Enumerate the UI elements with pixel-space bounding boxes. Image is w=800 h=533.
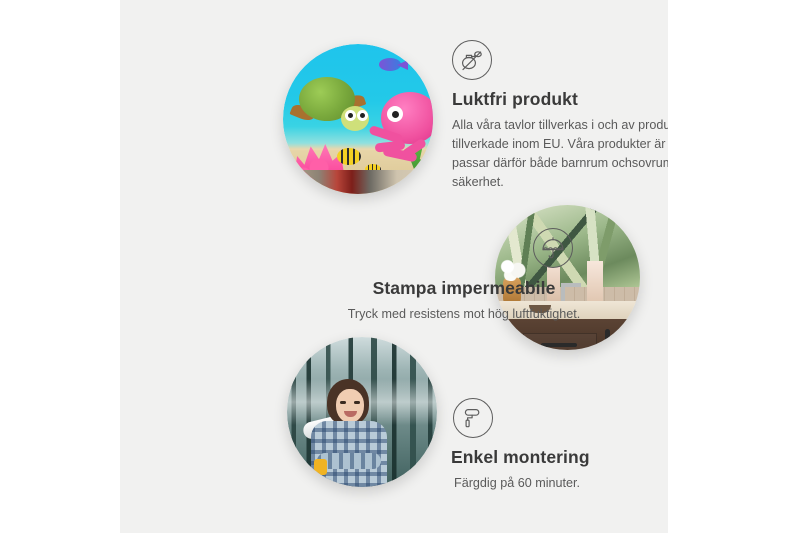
- woman-eye: [354, 401, 360, 404]
- feature-title: Stampa impermeabile: [338, 278, 590, 299]
- feature-waterproof-print: Stampa impermeabile Tryck med resistens …: [338, 228, 590, 324]
- feature-odour-free: Luktfri produkt Alla våra tavlor tillver…: [452, 40, 668, 193]
- bottom-photo-strip: [283, 170, 433, 194]
- vanity-drawer: [523, 333, 597, 350]
- underwater-scene-artwork: [283, 44, 433, 194]
- umbrella-icon: [533, 228, 573, 268]
- content-panel: Luktfri produkt Alla våra tavlor tillver…: [120, 0, 668, 533]
- cabinet-handle: [605, 329, 610, 350]
- woman-face: [336, 389, 364, 423]
- octopus-pupil: [392, 111, 399, 118]
- purple-fish-body: [379, 58, 401, 71]
- forest-wallpaper-scene: [287, 337, 437, 487]
- yellow-fish: [337, 148, 361, 165]
- feature-body: Färgdig på 60 minuter.: [454, 474, 668, 493]
- paint-roller-icon: [453, 398, 493, 438]
- paint-roller-grip: [314, 459, 327, 475]
- feature-title: Luktfri produkt: [452, 89, 668, 110]
- underwater-cartoon-photo: [283, 44, 433, 194]
- no-spray-bottle-icon: [452, 40, 492, 80]
- woman-eye: [340, 401, 346, 404]
- woman-with-paint-roller-photo: [287, 337, 437, 487]
- turtle-pupil: [348, 113, 353, 118]
- feature-title: Enkel montering: [451, 447, 668, 468]
- product-feature-infographic: Luktfri produkt Alla våra tavlor tillver…: [0, 0, 800, 533]
- turtle-pupil: [360, 113, 365, 118]
- feature-easy-mounting: Enkel montering Färgdig på 60 minuter.: [451, 398, 668, 493]
- drawer-handle: [541, 343, 577, 347]
- feature-body: Tryck med resistens mot hög luftfuktighe…: [338, 305, 590, 324]
- feature-body: Alla våra tavlor tillverkas i och av pro…: [452, 116, 668, 193]
